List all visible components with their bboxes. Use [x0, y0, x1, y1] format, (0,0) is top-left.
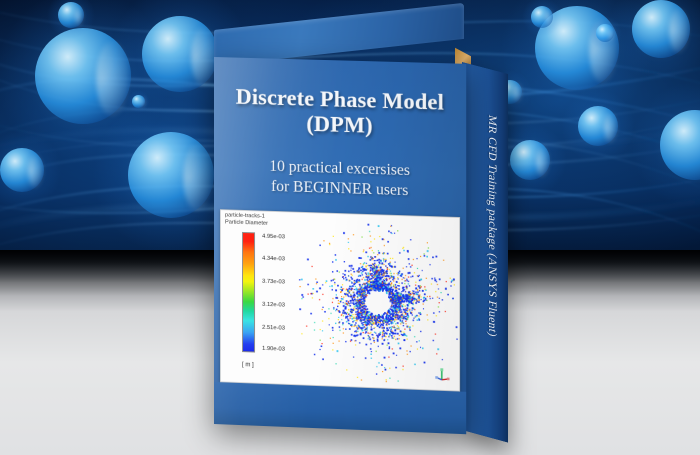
- particle-scatter-svg: [298, 220, 458, 387]
- box-top-face: [214, 3, 464, 66]
- particle-track-scatter: [298, 220, 458, 387]
- spine-title: MR CFD Training package (ANSYS Fluent): [486, 44, 498, 408]
- colorbar-tick: 4.34e-03: [262, 256, 285, 263]
- cover-bottom-band: [214, 382, 466, 434]
- cover-title: Discrete Phase Model (DPM): [214, 83, 466, 141]
- colorbar-tick: 1.90e-03: [262, 346, 285, 353]
- plot-header: particle-tracks-1 Particle Diameter: [225, 212, 268, 227]
- product-box: MR CFD Training package (ANSYS Fluent) D…: [0, 0, 700, 455]
- box-spine: MR CFD Training package (ANSYS Fluent): [462, 62, 508, 443]
- cfd-plot-panel: particle-tracks-1 Particle Diameter 4.95…: [220, 209, 460, 391]
- colorbar: [242, 232, 255, 353]
- colorbar-tick: 3.73e-03: [262, 279, 285, 286]
- axis-triad-icon: [434, 366, 450, 383]
- plot-header-subtitle: Particle Diameter: [225, 219, 268, 227]
- colorbar-tick: 2.51e-03: [262, 325, 285, 332]
- cover-subtitle: 10 practical excersises for BEGINNER use…: [214, 155, 466, 203]
- box-front-cover: Discrete Phase Model (DPM) 10 practical …: [214, 57, 466, 434]
- colorbar-tick: 3.12e-03: [262, 302, 285, 309]
- colorbar-tick: 4.95e-03: [262, 233, 285, 240]
- plot-unit-label: [ m ]: [242, 362, 254, 368]
- screenshot-canvas: MR CFD Training package (ANSYS Fluent) D…: [0, 0, 700, 455]
